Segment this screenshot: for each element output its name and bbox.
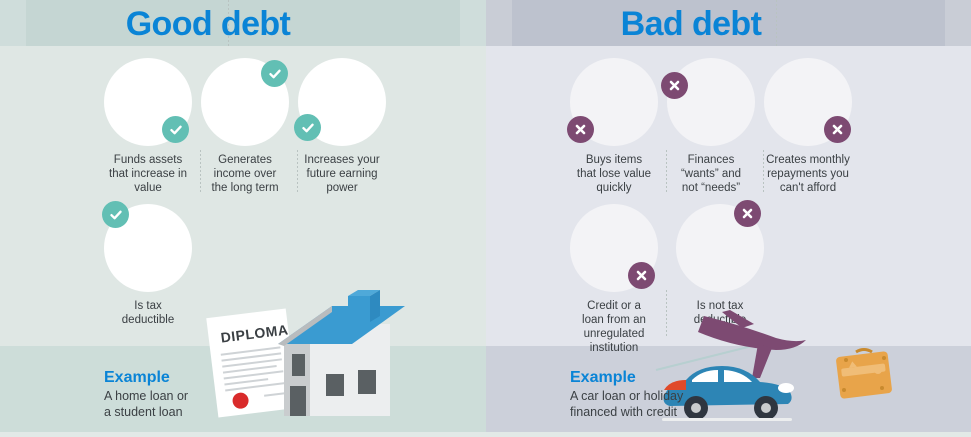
- good-debt-example: Example A home loan or a student loan: [104, 368, 188, 420]
- cross-badge: [824, 116, 851, 143]
- example-text: A car loan or holiday financed with cred…: [570, 388, 683, 420]
- piggy-bank-icon: R: [104, 204, 192, 292]
- item-caption: Funds assets that increase in value: [109, 153, 187, 195]
- cross-badge: [567, 116, 594, 143]
- bank-building-icon: R: [570, 204, 658, 292]
- money-bag-coins-icon: R: [201, 58, 289, 146]
- bad-item-3: Creates monthly repayments you can't aff…: [764, 58, 852, 195]
- broken-piggy-bank-icon: [764, 58, 852, 146]
- good-item-4: R Is tax deductible: [104, 204, 192, 327]
- balance-scales-icon: WANTS NEEDS: [667, 58, 755, 146]
- check-badge: [102, 201, 129, 228]
- item-caption: Credit or a loan from an unregulated ins…: [582, 299, 646, 355]
- good-debt-row-2: R Is tax deductible: [104, 204, 192, 327]
- tax-ball-chain-icon: TAX: [676, 204, 764, 292]
- good-debt-illustration: DIPLOMA: [200, 292, 415, 437]
- bad-debt-title: Bad debt: [486, 4, 971, 44]
- item-caption: Finances “wants” and not “needs”: [681, 153, 741, 195]
- cross-badge: [628, 262, 655, 289]
- example-text: A home loan or a student loan: [104, 388, 188, 420]
- example-label: Example: [570, 368, 683, 387]
- cross-badge: [734, 200, 761, 227]
- flying-money-icon: [570, 58, 658, 146]
- panel-bad-debt: Bad debt: [486, 0, 971, 432]
- house-illustration: [278, 290, 405, 416]
- item-caption: Buys items that lose value quickly: [577, 153, 651, 195]
- good-item-2: R Generates income over the long term: [201, 58, 289, 195]
- caption-divider: [297, 150, 298, 192]
- check-badge: [294, 114, 321, 141]
- lightbulb-icon: [298, 58, 386, 146]
- cross-badge: [661, 72, 688, 99]
- good-item-1: Funds assets that increase in value: [104, 58, 192, 195]
- panel-good-debt: Good debt Funds assets that increase in …: [0, 0, 486, 432]
- caption-divider: [200, 150, 201, 192]
- good-debt-title: Good debt: [0, 4, 486, 44]
- bad-item-4: R Credit or a loan from an unregulated i…: [570, 204, 658, 355]
- example-label: Example: [104, 368, 188, 387]
- item-caption: Creates monthly repayments you can't aff…: [766, 153, 850, 195]
- good-debt-row-1: Funds assets that increase in value: [104, 58, 386, 195]
- item-caption: Generates income over the long term: [211, 153, 278, 195]
- bad-item-2: WANTS NEEDS Finances “wants” and not “ne…: [667, 58, 755, 195]
- check-badge: [261, 60, 288, 87]
- bad-debt-row-1: Buys items that lose value quickly: [570, 58, 852, 195]
- infographic-root: Good debt Funds assets that increase in …: [0, 0, 971, 432]
- check-badge: [162, 116, 189, 143]
- caption-divider: [763, 150, 764, 192]
- item-caption: Is tax deductible: [122, 299, 174, 327]
- bad-item-1: Buys items that lose value quickly: [570, 58, 658, 195]
- bad-debt-illustration: [656, 330, 971, 437]
- bad-debt-example: Example A car loan or holiday financed w…: [570, 368, 683, 420]
- good-item-3: Increases your future earning power: [298, 58, 386, 195]
- caption-divider: [666, 150, 667, 192]
- icon-circle: [667, 58, 755, 146]
- rising-chart-icon: [104, 58, 192, 146]
- item-caption: Increases your future earning power: [304, 153, 379, 195]
- suitcase-illustration: [836, 350, 893, 400]
